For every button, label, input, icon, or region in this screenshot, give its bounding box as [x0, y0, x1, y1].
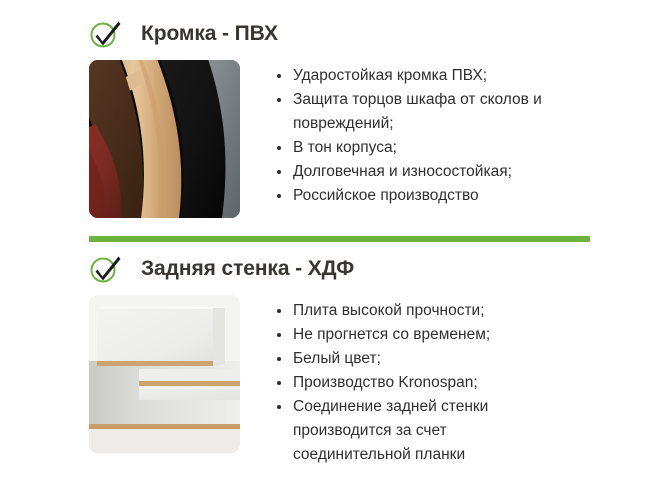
list-item: Защита торцов шкафа от сколов и поврежде…: [276, 88, 561, 136]
section-body-edge-banding: Ударостойкая кромка ПВХ; Защита торцов ш…: [0, 60, 652, 218]
list-item: Ударостойкая кромка ПВХ;: [276, 64, 561, 88]
list-item: Российское производство: [276, 184, 561, 208]
specs-page: Кромка - ПВХ: [0, 0, 652, 500]
hdf-boards-illustration: [89, 295, 240, 453]
list-item: Белый цвет;: [276, 347, 543, 371]
list-item: Производство Kronospan;: [276, 371, 543, 395]
list-item: Соединение задней стенки производится за…: [276, 395, 543, 467]
white-hdf-boards-stack-photo: [89, 295, 240, 453]
list-item: Плита высокой прочности;: [276, 299, 543, 323]
list-item: Долговечная и износостойкая;: [276, 160, 561, 184]
section-header-back-panel: Задняя стенка - ХДФ: [0, 249, 652, 289]
list-item: Не прогнется со временем;: [276, 323, 543, 347]
section-header-edge-banding: Кромка - ПВХ: [0, 14, 652, 54]
feature-list-back-panel: Плита высокой прочности; Не прогнется со…: [276, 295, 543, 467]
green-divider-bar: [89, 236, 590, 242]
section-body-back-panel: Плита высокой прочности; Не прогнется со…: [0, 295, 652, 467]
pvc-edge-banding-rolls-photo: [89, 60, 240, 218]
pvc-edge-banding-illustration: [89, 60, 240, 218]
check-circle-icon: [89, 254, 123, 284]
section-edge-banding: Кромка - ПВХ: [0, 14, 652, 218]
list-item: В тон корпуса;: [276, 136, 561, 160]
section-title: Кромка - ПВХ: [141, 22, 278, 46]
section-title: Задняя стенка - ХДФ: [141, 257, 354, 281]
check-circle-icon: [89, 19, 123, 49]
feature-list-edge-banding: Ударостойкая кромка ПВХ; Защита торцов ш…: [276, 60, 561, 208]
section-back-panel: Задняя стенка - ХДФ: [0, 249, 652, 467]
